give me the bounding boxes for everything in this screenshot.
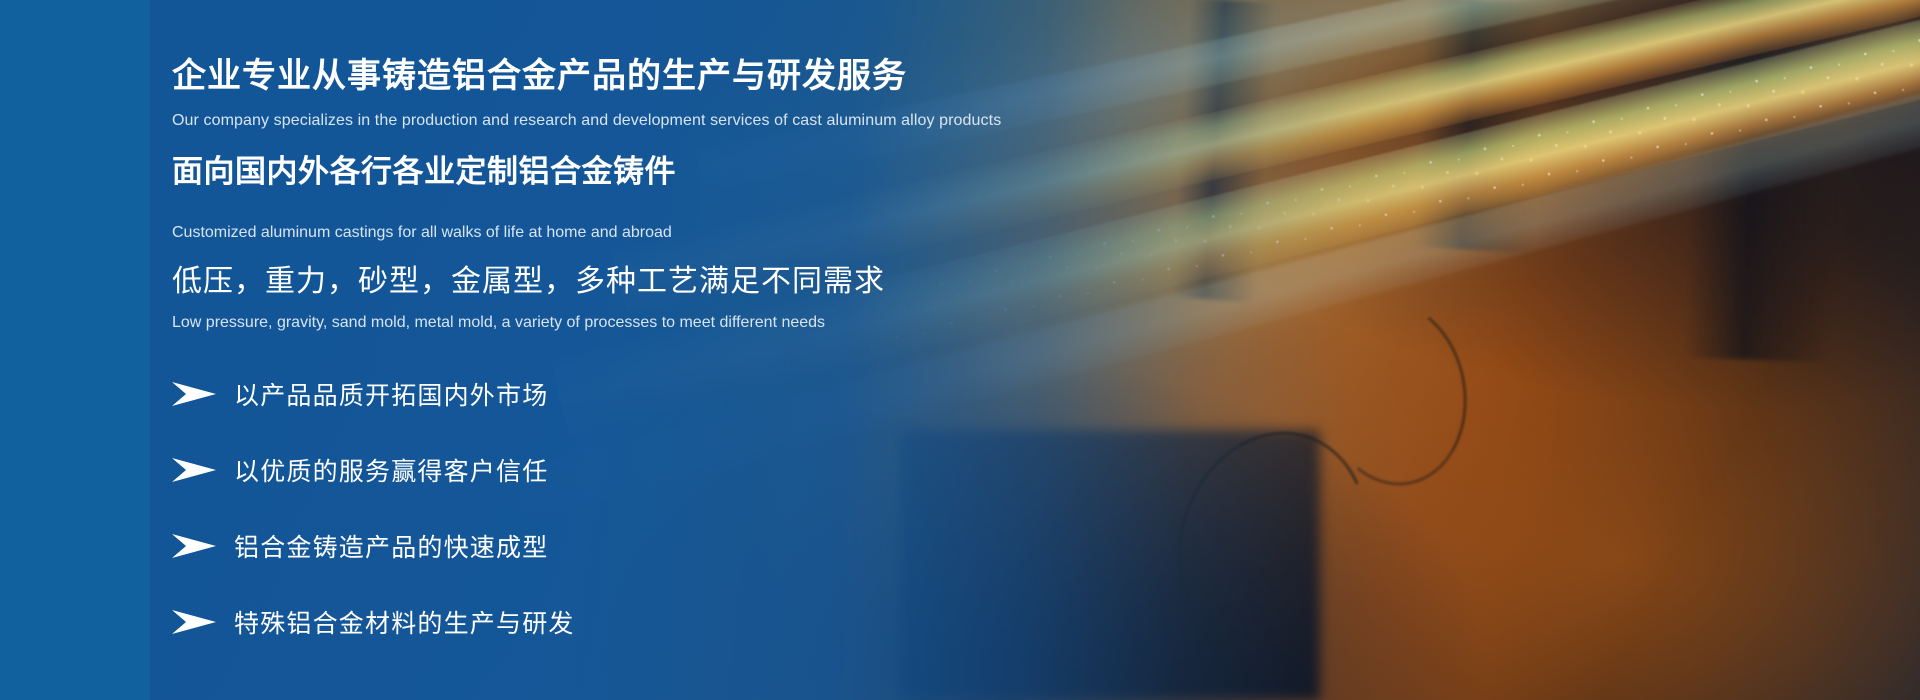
list-item: 铝合金铸造产品的快速成型 bbox=[172, 517, 932, 575]
list-item-label: 以产品品质开拓国内外市场 bbox=[234, 376, 548, 412]
arrow-right-icon bbox=[172, 380, 218, 408]
list-item: 以产品品质开拓国内外市场 bbox=[172, 365, 932, 423]
list-item-label: 铝合金铸造产品的快速成型 bbox=[234, 528, 548, 564]
subheadline-english-secondary: Customized aluminum castings for all wal… bbox=[172, 224, 672, 242]
list-item: 特殊铝合金材料的生产与研发 bbox=[172, 593, 932, 651]
headline-chinese-primary: 企业专业从事铸造铝合金产品的生产与研发服务 bbox=[172, 48, 907, 97]
headline-chinese-secondary: 面向国内外各行各业定制铝合金铸件 bbox=[172, 146, 676, 191]
blue-left-panel bbox=[0, 0, 150, 700]
arrow-right-icon bbox=[172, 532, 218, 560]
list-item-label: 以优质的服务赢得客户信任 bbox=[234, 452, 548, 488]
arrow-right-icon bbox=[172, 608, 218, 636]
arrow-right-icon bbox=[172, 456, 218, 484]
feature-bullet-list: 以产品品质开拓国内外市场 以优质的服务赢得客户信任 铝合金铸造产品的快速成型 特… bbox=[172, 365, 932, 669]
subheadline-english-tertiary: Low pressure, gravity, sand mold, metal … bbox=[172, 314, 825, 332]
banner-content: 企业专业从事铸造铝合金产品的生产与研发服务 Our company specia… bbox=[172, 0, 1272, 700]
list-item-label: 特殊铝合金材料的生产与研发 bbox=[234, 604, 575, 640]
headline-chinese-tertiary: 低压，重力，砂型，金属型，多种工艺满足不同需求 bbox=[172, 256, 885, 300]
subheadline-english-primary: Our company specializes in the productio… bbox=[172, 112, 1001, 130]
hero-banner: 企业专业从事铸造铝合金产品的生产与研发服务 Our company specia… bbox=[0, 0, 1920, 700]
list-item: 以优质的服务赢得客户信任 bbox=[172, 441, 932, 499]
